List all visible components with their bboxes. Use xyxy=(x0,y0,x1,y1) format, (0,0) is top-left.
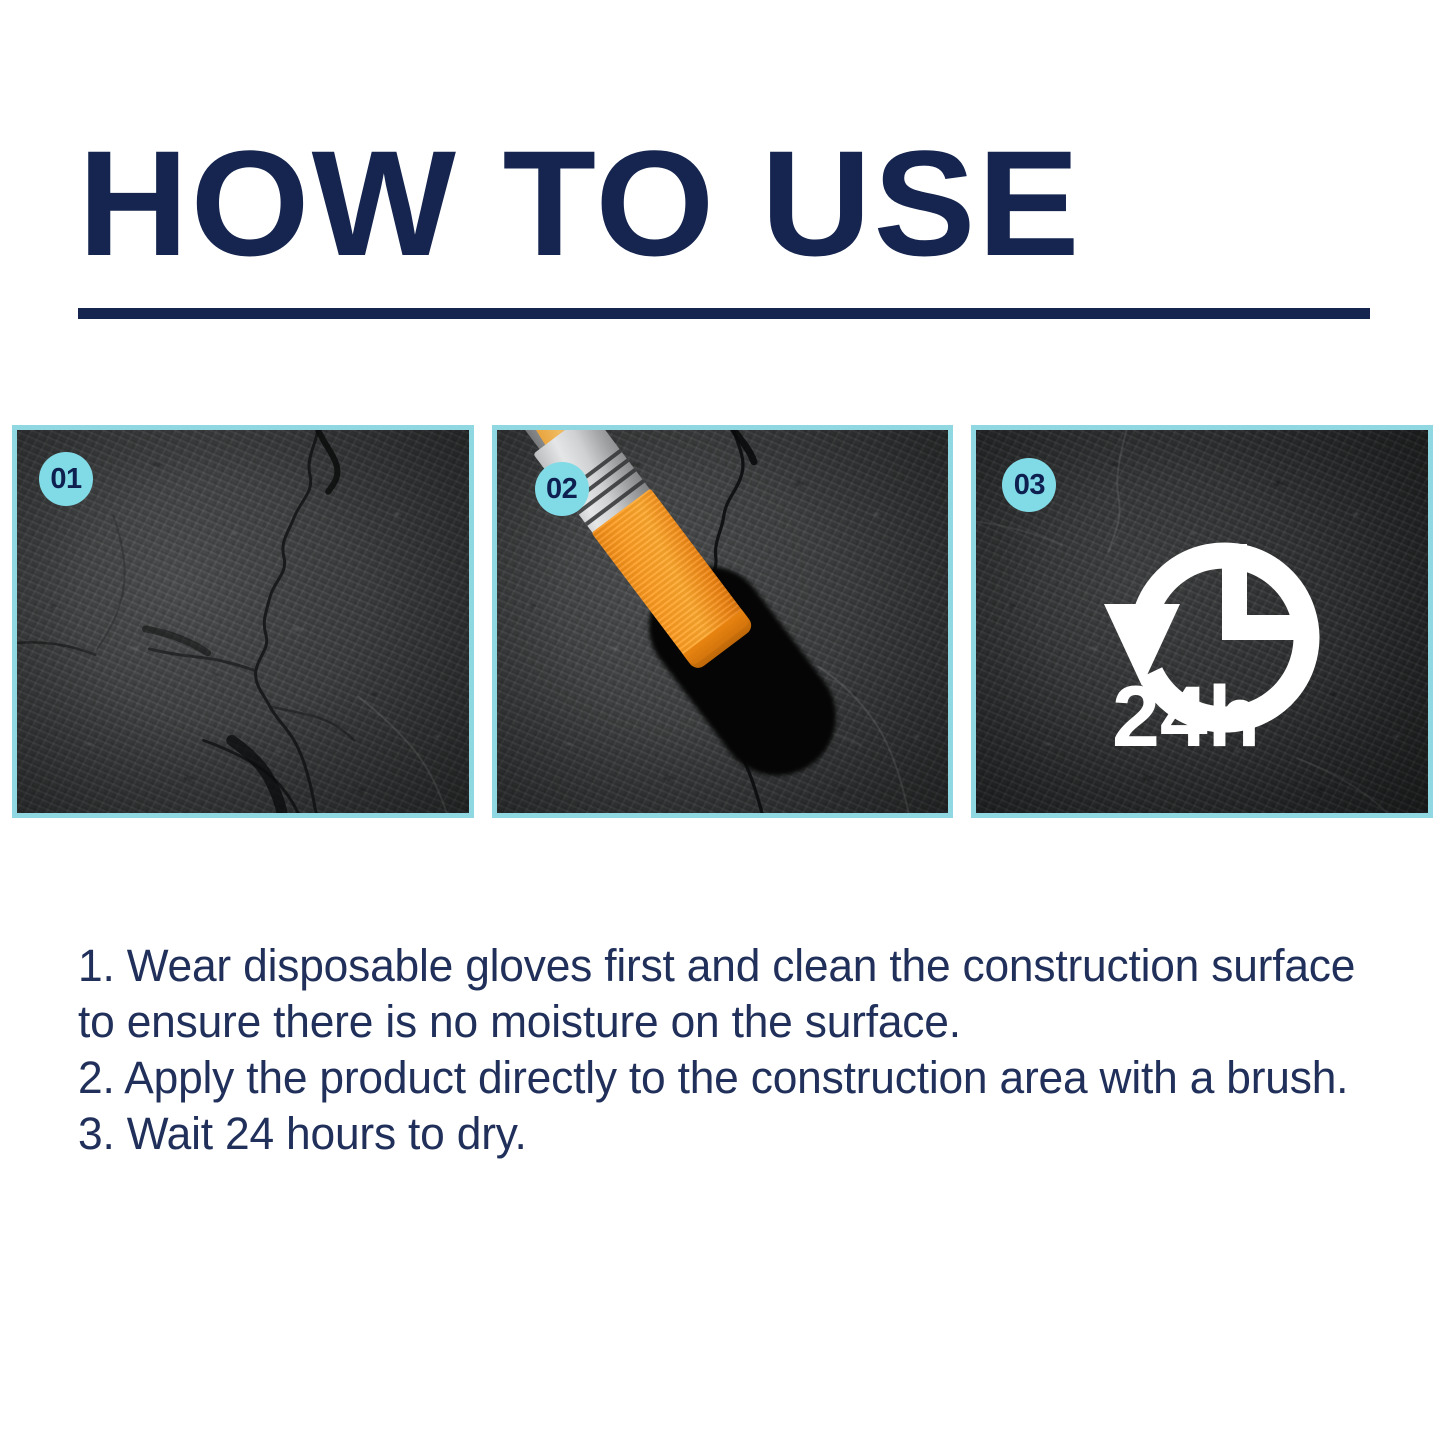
brush-body xyxy=(492,425,768,685)
step-panel-01: 01 xyxy=(12,425,474,818)
instruction-line-3: 3. Wait 24 hours to dry. xyxy=(78,1106,1359,1162)
clock-label-text: 24h xyxy=(1112,669,1260,765)
page-header: HOW TO USE xyxy=(0,128,1445,328)
step-badge-03: 03 xyxy=(1002,458,1056,512)
title-underline-rule xyxy=(78,308,1370,319)
instructions-list: 1. Wear disposable gloves first and clea… xyxy=(78,938,1378,1162)
step-panel-03: 24h 03 xyxy=(971,425,1433,818)
clock-24h-icon: 24h xyxy=(1076,478,1376,778)
instruction-line-2: 2. Apply the product directly to the con… xyxy=(78,1050,1359,1106)
instruction-line-1: 1. Wear disposable gloves first and clea… xyxy=(78,938,1359,1050)
step-panel-02: 02 xyxy=(492,425,954,818)
steps-gallery: 01 xyxy=(12,425,1433,818)
step-badge-01: 01 xyxy=(39,452,93,506)
page-title: HOW TO USE xyxy=(78,128,1404,278)
step-badge-02: 02 xyxy=(535,462,589,516)
